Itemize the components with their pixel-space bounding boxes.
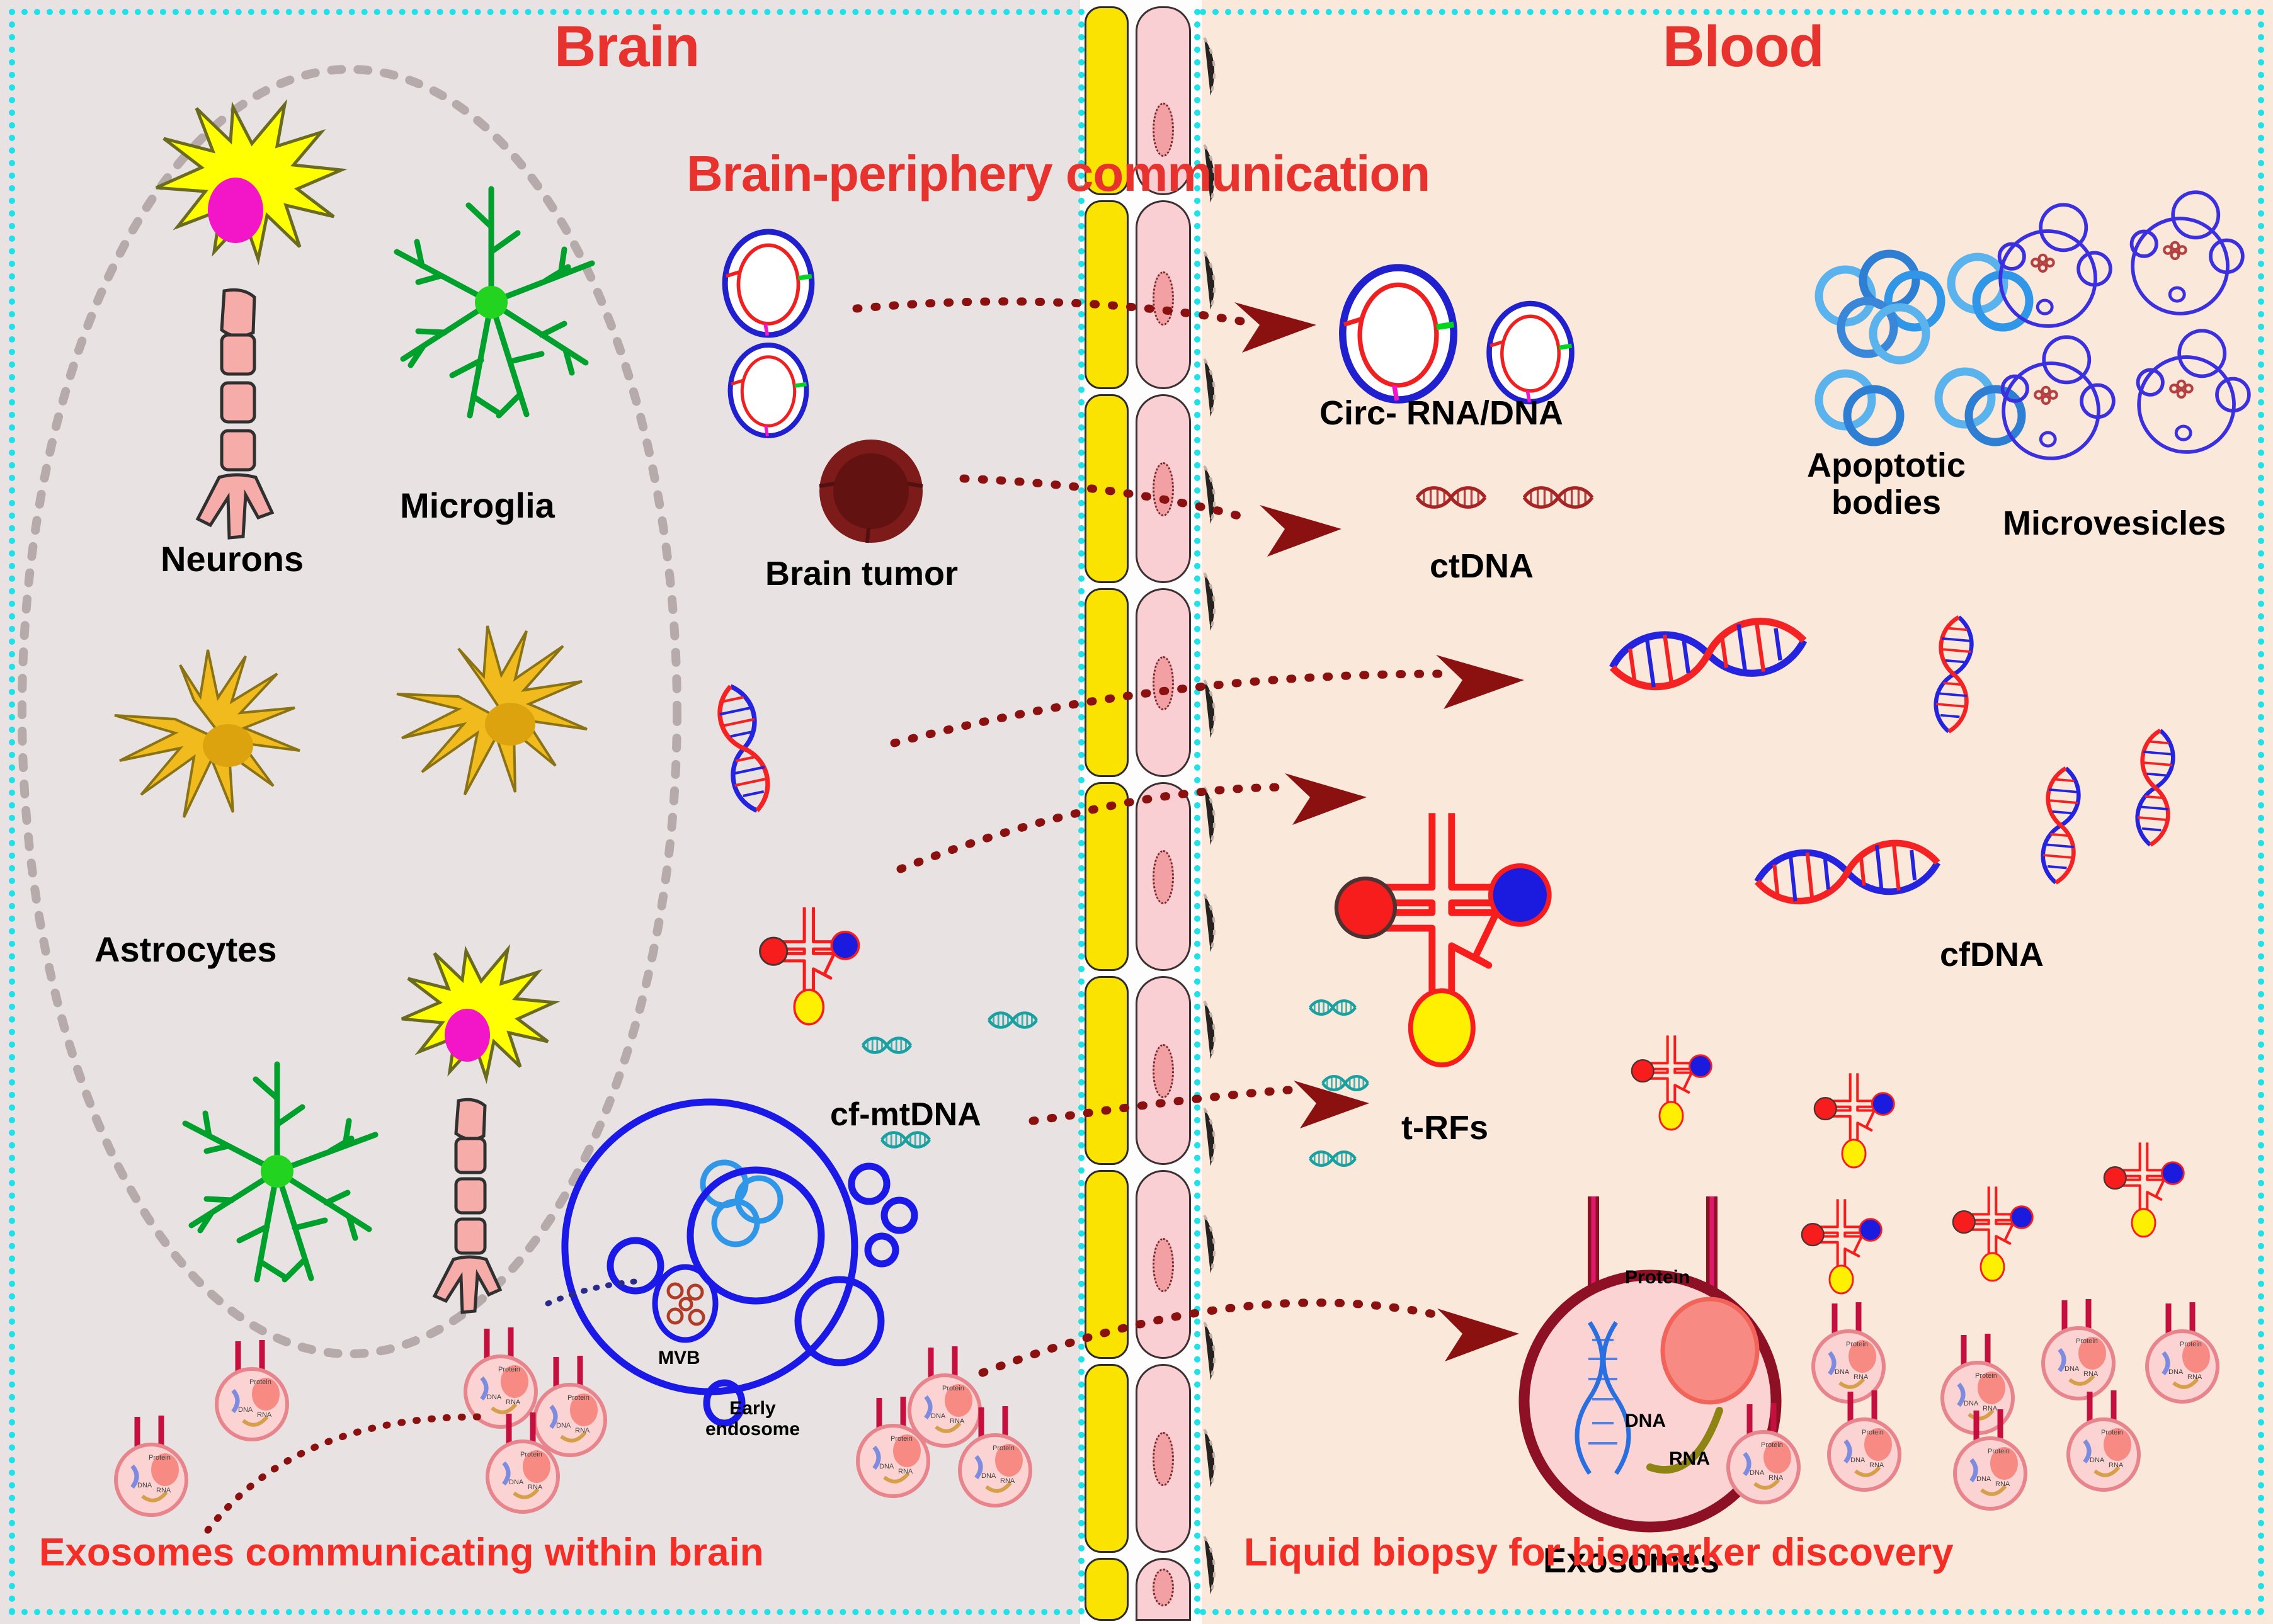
label-exosome-protein: Protein — [1625, 1267, 1690, 1288]
endothelial-cell — [1136, 588, 1191, 777]
label-brain-tumor: Brain tumor — [765, 554, 958, 593]
astrocyte-endfoot — [1085, 1558, 1129, 1621]
figure-canvas: Protein DNA RNA — [0, 0, 2273, 1624]
label-neurons: Neurons — [161, 538, 304, 579]
label-exosome-rna: RNA — [1669, 1448, 1710, 1470]
endothelial-cell — [1136, 1364, 1191, 1553]
brain-panel — [0, 0, 1080, 1624]
label-cf-mtdna: cf-mtDNA — [830, 1096, 981, 1133]
astrocyte-endfoot — [1085, 588, 1129, 777]
blood-panel — [1202, 0, 2273, 1624]
brain-footer-label: Exosomes communicating within brain — [39, 1530, 764, 1575]
label-exosome-dna: DNA — [1625, 1411, 1666, 1432]
label-ctdna: ctDNA — [1430, 547, 1534, 586]
endothelial-nucleus — [1153, 271, 1174, 326]
endothelial-nucleus — [1153, 1044, 1174, 1098]
label-trfs: t-RFs — [1401, 1108, 1488, 1147]
astrocyte-endfoot — [1085, 782, 1129, 971]
astrocyte-endfoot — [1085, 394, 1129, 583]
endothelial-cell — [1136, 394, 1191, 583]
communication-title: Brain-periphery communication — [686, 145, 1430, 203]
endothelial-nucleus — [1153, 462, 1174, 516]
endothelial-nucleus — [1153, 1432, 1174, 1486]
label-mvb: MVB — [658, 1348, 700, 1369]
label-cfdna: cfDNA — [1940, 935, 2044, 974]
astrocyte-endfoot — [1085, 1364, 1129, 1553]
blood-brain-barrier — [1080, 0, 1202, 1624]
astrocyte-endfoot — [1085, 1170, 1129, 1359]
endothelial-cell — [1136, 1170, 1191, 1359]
endothelial-nucleus — [1153, 1569, 1174, 1606]
brain-title: Brain — [554, 14, 699, 80]
astrocyte-endfoot — [1085, 200, 1129, 389]
blood-title: Blood — [1663, 14, 1824, 80]
bbb-cyan-divider-right — [1194, 9, 1200, 1615]
endothelial-nucleus — [1153, 1238, 1174, 1292]
endothelial-cell — [1136, 1558, 1191, 1621]
endothelial-cell — [1136, 976, 1191, 1165]
endothelial-nucleus — [1153, 850, 1174, 904]
endothelial-nucleus — [1153, 656, 1174, 710]
label-microvesicles: Microvesicles — [2003, 504, 2226, 543]
label-apoptotic-bodies: Apoptotic bodies — [1795, 447, 1978, 522]
label-circ-rna-dna: Circ- RNA/DNA — [1319, 394, 1563, 433]
endothelial-cell — [1136, 200, 1191, 389]
bbb-cyan-divider-left — [1078, 9, 1085, 1615]
label-microglia: Microglia — [400, 485, 555, 526]
label-early-endosome: Early endosome — [705, 1398, 800, 1439]
label-astrocytes: Astrocytes — [94, 929, 276, 970]
astrocyte-endfoot — [1085, 976, 1129, 1165]
blood-footer-label: Liquid biopsy for biomarker discovery — [1244, 1530, 1954, 1575]
endothelial-cell — [1136, 782, 1191, 971]
